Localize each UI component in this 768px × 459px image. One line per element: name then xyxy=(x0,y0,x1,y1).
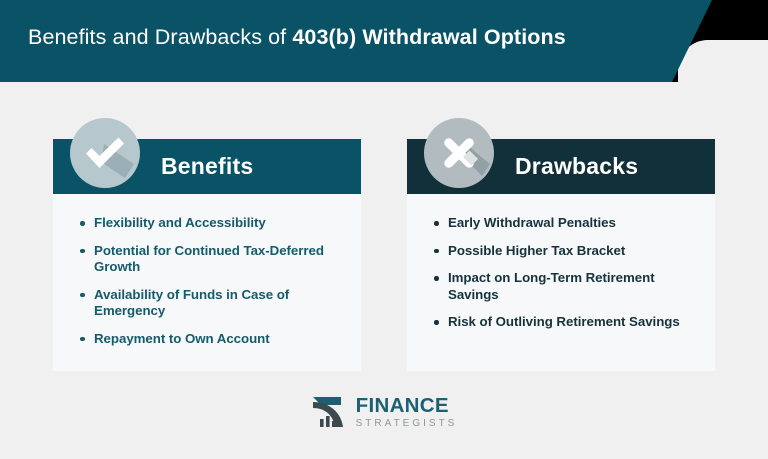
card-drawbacks-title: Drawbacks xyxy=(515,139,638,194)
check-circle-icon xyxy=(70,118,140,188)
list-item: Flexibility and Accessibility xyxy=(79,215,341,232)
list-item: Early Withdrawal Penalties xyxy=(433,215,695,232)
bridge-chart-logo-icon xyxy=(311,396,349,428)
card-benefits-header: Benefits xyxy=(53,139,361,194)
x-circle-icon xyxy=(424,118,494,188)
card-benefits-list: Flexibility and Accessibility Potential … xyxy=(53,194,361,358)
card-benefits-title: Benefits xyxy=(161,139,253,194)
list-item: Impact on Long-Term Retirement Savings xyxy=(433,270,695,303)
list-item: Availability of Funds in Case of Emergen… xyxy=(79,287,341,320)
card-drawbacks: Drawbacks Early Withdrawal Penalties Pos… xyxy=(407,139,715,371)
card-benefits: Benefits Flexibility and Accessibility P… xyxy=(53,139,361,371)
card-drawbacks-header: Drawbacks xyxy=(407,139,715,194)
page-title-normal: Benefits and Drawbacks of xyxy=(28,25,292,49)
list-item: Potential for Continued Tax-Deferred Gro… xyxy=(79,243,341,276)
brand-logo: FINANCE STRATEGISTS xyxy=(0,396,768,429)
list-item: Repayment to Own Account xyxy=(79,331,341,348)
brand-name: FINANCE xyxy=(356,396,458,417)
list-item: Possible Higher Tax Bracket xyxy=(433,243,695,260)
brand-wordmark: FINANCE STRATEGISTS xyxy=(356,396,458,429)
brand-subtitle: STRATEGISTS xyxy=(356,419,458,429)
header-corner-notch xyxy=(678,40,768,82)
card-drawbacks-list: Early Withdrawal Penalties Possible High… xyxy=(407,194,715,342)
page-header: Benefits and Drawbacks of 403(b) Withdra… xyxy=(0,0,768,82)
page-title-bold: 403(b) Withdrawal Options xyxy=(292,25,565,49)
page-title: Benefits and Drawbacks of 403(b) Withdra… xyxy=(28,25,566,50)
list-item: Risk of Outliving Retirement Savings xyxy=(433,314,695,331)
